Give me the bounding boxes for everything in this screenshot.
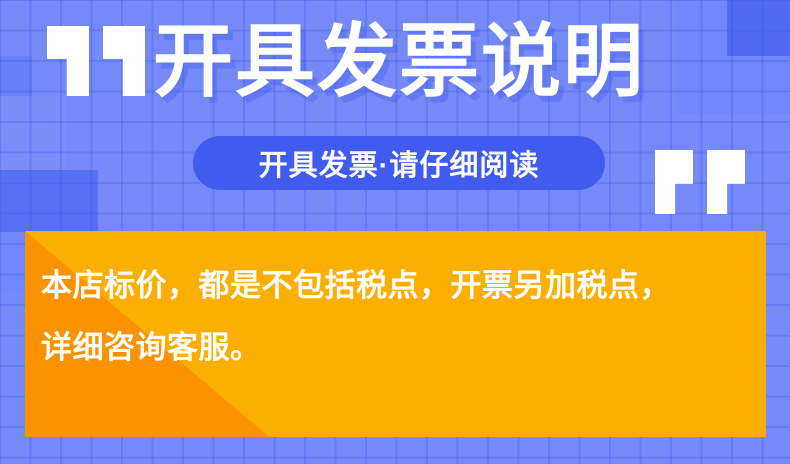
invoice-notice-poster: 开具发票说明 开具发票·请仔细阅读 本店标价，都是不包括税点，开票另加税点， 详…	[0, 0, 790, 464]
close-quote-mark-left	[655, 150, 693, 214]
close-quote-mark-right	[707, 150, 745, 214]
notice-line: 详细咨询客服。	[41, 317, 754, 379]
notice-text: 本店标价，都是不包括税点，开票另加税点， 详细咨询客服。	[41, 255, 754, 379]
subtitle-badge: 开具发票·请仔细阅读	[193, 136, 605, 190]
open-quote-icon	[47, 26, 145, 96]
open-quote-mark-left	[47, 26, 89, 96]
notice-line: 本店标价，都是不包括税点，开票另加税点，	[41, 255, 754, 317]
close-quote-icon	[655, 150, 745, 214]
notice-panel: 本店标价，都是不包括税点，开票另加税点， 详细咨询客服。	[25, 231, 766, 437]
subtitle-badge-label: 开具发票·请仔细阅读	[259, 142, 540, 184]
open-quote-mark-right	[103, 26, 145, 96]
page-title: 开具发票说明	[153, 22, 645, 102]
